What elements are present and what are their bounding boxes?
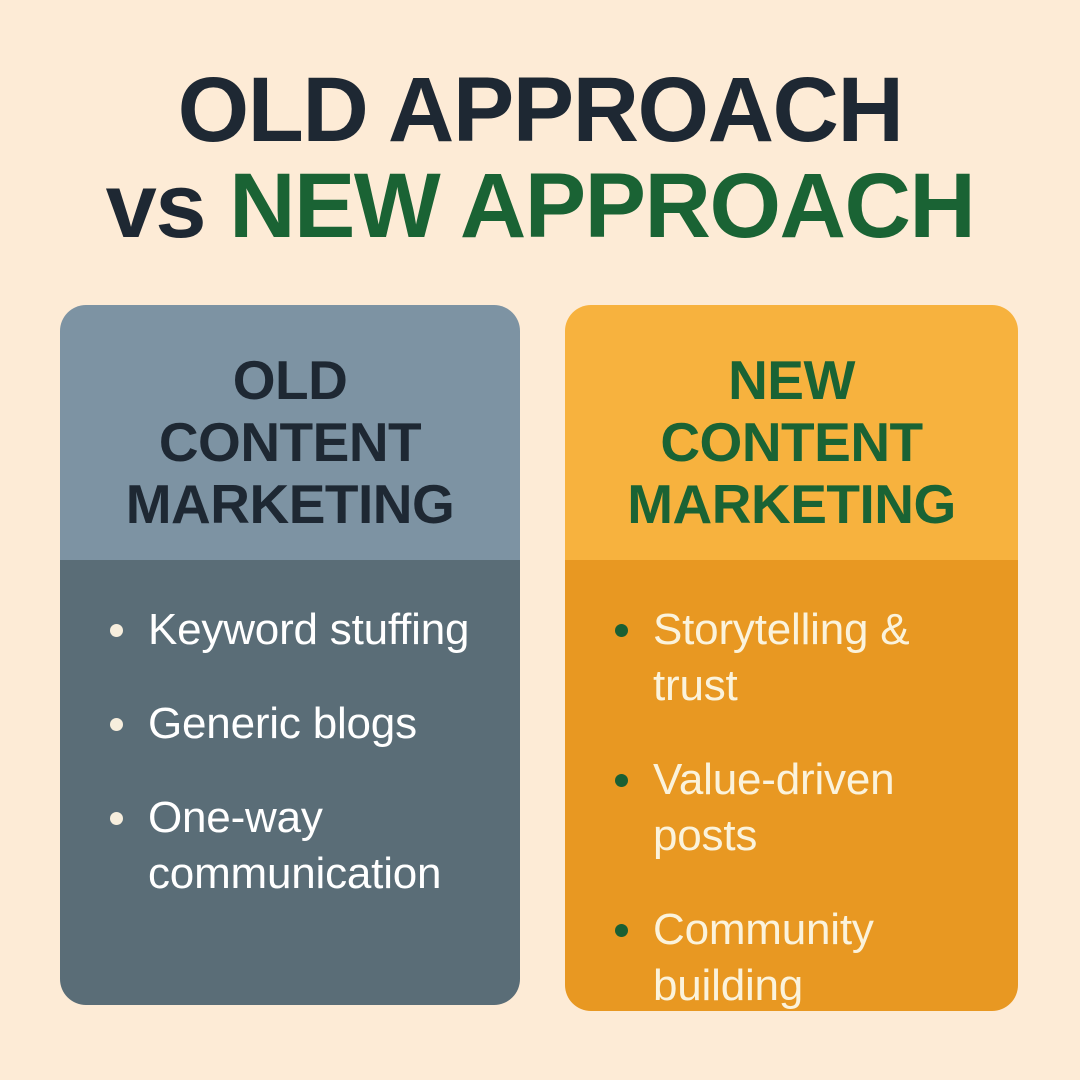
card-new-title: NEW CONTENT MARKETING: [583, 349, 1000, 535]
card-old-title-line-1: OLD: [78, 349, 502, 411]
card-new-header: NEW CONTENT MARKETING: [565, 305, 1018, 560]
card-old-title-line-3: MARKETING: [78, 473, 502, 535]
list-item-label: One-way communication: [148, 793, 441, 898]
card-new-body: Storytelling & trust Value-driven posts …: [565, 560, 1018, 1011]
card-new-title-line-2: CONTENT: [583, 411, 1000, 473]
card-old-title-line-2: CONTENT: [78, 411, 502, 473]
card-old-content-marketing: OLD CONTENT MARKETING Keyword stuffing G…: [60, 305, 520, 1005]
title-new-approach-label: NEW APPROACH: [229, 155, 974, 257]
list-item-label: Keyword stuffing: [148, 605, 469, 654]
card-old-title: OLD CONTENT MARKETING: [78, 349, 502, 535]
list-item: Value-driven posts: [607, 752, 992, 864]
card-new-title-line-1: NEW: [583, 349, 1000, 411]
infographic-canvas: OLD APPROACH vs NEW APPROACH OLD CONTENT…: [0, 0, 1080, 1080]
card-old-header: OLD CONTENT MARKETING: [60, 305, 520, 560]
list-item: Keyword stuffing: [102, 602, 494, 658]
bullet-dot-icon: [110, 812, 123, 825]
title-line-old-approach: OLD APPROACH: [0, 62, 1080, 158]
bullet-dot-icon: [110, 718, 123, 731]
card-new-bullet-list: Storytelling & trust Value-driven posts …: [607, 602, 992, 1011]
list-item: Generic blogs: [102, 696, 494, 752]
card-old-body: Keyword stuffing Generic blogs One-way c…: [60, 560, 520, 1005]
comparison-cards: OLD CONTENT MARKETING Keyword stuffing G…: [0, 305, 1080, 1020]
card-new-content-marketing: NEW CONTENT MARKETING Storytelling & tru…: [565, 305, 1018, 1011]
list-item: Community building: [607, 902, 992, 1011]
list-item-label: Storytelling & trust: [653, 605, 909, 710]
title-line-new-approach: vs NEW APPROACH: [0, 158, 1080, 254]
card-new-title-line-3: MARKETING: [583, 473, 1000, 535]
bullet-dot-icon: [615, 924, 628, 937]
list-item: One-way communication: [102, 790, 494, 902]
bullet-dot-icon: [615, 774, 628, 787]
title-vs-label: vs: [106, 155, 229, 257]
page-title: OLD APPROACH vs NEW APPROACH: [0, 62, 1080, 254]
card-old-bullet-list: Keyword stuffing Generic blogs One-way c…: [102, 602, 494, 902]
list-item-label: Value-driven posts: [653, 755, 894, 860]
list-item-label: Generic blogs: [148, 699, 417, 748]
bullet-dot-icon: [110, 624, 123, 637]
list-item-label: Community building: [653, 905, 874, 1010]
list-item: Storytelling & trust: [607, 602, 992, 714]
bullet-dot-icon: [615, 624, 628, 637]
